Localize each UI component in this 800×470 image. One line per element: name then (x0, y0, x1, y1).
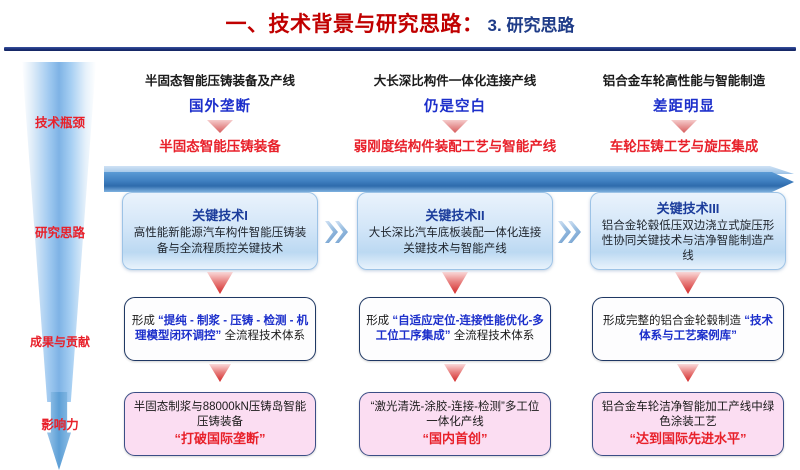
key-technology-card-2[interactable]: 关键技术II 大长深比汽车底板装配一体化连接关键技术与智能产线 (357, 192, 553, 270)
column-2-gap: 仍是空白 (338, 95, 572, 116)
title-divider (4, 47, 796, 51)
outcome-2-prefix: 形成 (366, 315, 389, 327)
result-card-1[interactable]: 半固态制浆与88000kN压铸岛智能压铸装备“打破国际垄断” (124, 392, 316, 456)
outcome-card-3[interactable]: 形成完整的铝合金轮毂制造 “技术体系与工艺案例库” (592, 297, 784, 361)
outcome-1-prefix: 形成 (132, 315, 155, 327)
outcome-2-suffix: 全流程技术体系 (454, 330, 535, 342)
result-3-highlight: “达到国际先进水平” (629, 431, 746, 446)
result-1-highlight: “打破国际垄断” (174, 431, 265, 446)
result-3-body: 铝合金车轮洁净智能加工产线中绿色涂装工艺 (602, 401, 775, 428)
chevron-down-icon (442, 120, 468, 133)
band-front-face (104, 172, 794, 192)
result-2-text: “激光清洗-涂胶-连接-检测”多工位一体化产线“国内首创” (365, 400, 545, 449)
column-2-topic: 大长深比构件一体化连接产线 (338, 70, 572, 89)
key-technology-card-1[interactable]: 关键技术I 高性能新能源汽车构件智能压铸装备与全流程质控关键技术 (122, 192, 318, 270)
arrow-down-icon-3a (675, 272, 701, 294)
arrow-down-icon-2b (444, 364, 466, 382)
column-header-3: 铝合金车轮高性能与智能制造 差距明显 车轮压铸工艺与旋压集成 (572, 70, 796, 155)
arrow-down-icon-1a (207, 272, 233, 294)
arrow-down-icon-2a (442, 272, 468, 294)
result-2-highlight: “国内首创” (422, 431, 487, 446)
blue-band-arrow (104, 166, 794, 192)
result-card-2[interactable]: “激光清洗-涂胶-连接-检测”多工位一体化产线“国内首创” (359, 392, 551, 456)
column-1-direction: 半固态智能压铸装备 (104, 135, 336, 155)
column-2-direction: 弱刚度结构件装配工艺与智能产线 (338, 135, 572, 155)
column-1-topic: 半固态智能压铸装备及产线 (104, 70, 336, 89)
outcome-1-suffix: 全流程技术体系 (224, 330, 305, 342)
key-technology-1-body: 高性能新能源汽车构件智能压铸装备与全流程质控关键技术 (129, 226, 311, 256)
result-1-text: 半固态制浆与88000kN压铸岛智能压铸装备“打破国际垄断” (130, 400, 310, 449)
outcome-2-text: 形成 “自适应定位-连接性能优化-多工位工序集成” 全流程技术体系 (365, 314, 545, 345)
column-1-gap: 国外垄断 (104, 95, 336, 116)
column-3-topic: 铝合金车轮高性能与智能制造 (572, 70, 796, 89)
chevron-down-icon (207, 120, 233, 133)
column-header-1: 半固态智能压铸装备及产线 国外垄断 半固态智能压铸装备 (104, 70, 336, 155)
outcome-3-text: 形成完整的铝合金轮毂制造 “技术体系与工艺案例库” (598, 314, 778, 345)
outcome-1-text: 形成 “提纯 - 制浆 - 压铸 - 检测 - 机理模型闭环调控” 全流程技术体… (130, 314, 310, 345)
outcome-3-prefix: 形成完整的铝合金轮毂制造 (603, 315, 741, 327)
chevron-down-icon (671, 120, 697, 133)
key-technology-1-title: 关键技术I (129, 205, 311, 224)
process-funnel-arrow: 技术瓶颈 研究思路 成果与贡献 影响力 (22, 62, 96, 462)
key-technology-2-body: 大长深比汽车底板装配一体化连接关键技术与智能产线 (364, 226, 546, 256)
funnel-label-achievements: 成果与贡献 (16, 333, 104, 350)
outcome-card-1[interactable]: 形成 “提纯 - 制浆 - 压铸 - 检测 - 机理模型闭环调控” 全流程技术体… (124, 297, 316, 361)
key-technology-card-3[interactable]: 关键技术III 铝合金轮毂低压双边浇立式旋压形性协同关键技术与洁净智能制造产线 (590, 192, 786, 270)
outcome-card-2[interactable]: 形成 “自适应定位-连接性能优化-多工位工序集成” 全流程技术体系 (359, 297, 551, 361)
slide-canvas: 一、技术背景与研究思路：3. 研究思路 技术瓶颈 研究思路 成果与贡献 影响力 … (0, 0, 800, 470)
column-3-gap: 差距明显 (572, 95, 796, 116)
funnel-label-bottleneck: 技术瓶颈 (16, 112, 104, 131)
key-technology-2-title: 关键技术II (364, 205, 546, 224)
chevron-right-icon-1 (325, 221, 355, 243)
page-title: 一、技术背景与研究思路：3. 研究思路 (0, 8, 800, 38)
key-technology-3-title: 关键技术III (597, 198, 779, 217)
column-header-2: 大长深比构件一体化连接产线 仍是空白 弱刚度结构件装配工艺与智能产线 (338, 70, 572, 155)
column-3-direction: 车轮压铸工艺与旋压集成 (572, 135, 796, 155)
page-title-main: 一、技术背景与研究思路： (226, 13, 484, 36)
result-2-body: “激光清洗-涂胶-连接-检测”多工位一体化产线 (371, 401, 540, 428)
arrow-down-icon-1b (209, 364, 231, 382)
result-card-3[interactable]: 铝合金车轮洁净智能加工产线中绿色涂装工艺“达到国际先进水平” (592, 392, 784, 456)
funnel-label-approach: 研究思路 (16, 222, 104, 241)
result-1-body: 半固态制浆与88000kN压铸岛智能压铸装备 (134, 401, 307, 428)
arrow-down-icon-3b (677, 364, 699, 382)
key-technology-3-body: 铝合金轮毂低压双边浇立式旋压形性协同关键技术与洁净智能制造产线 (597, 219, 779, 265)
result-3-text: 铝合金车轮洁净智能加工产线中绿色涂装工艺“达到国际先进水平” (598, 400, 778, 449)
page-title-sub: 3. 研究思路 (488, 16, 575, 35)
chevron-right-icon-2 (558, 221, 588, 243)
funnel-label-impact: 影响力 (16, 414, 104, 433)
